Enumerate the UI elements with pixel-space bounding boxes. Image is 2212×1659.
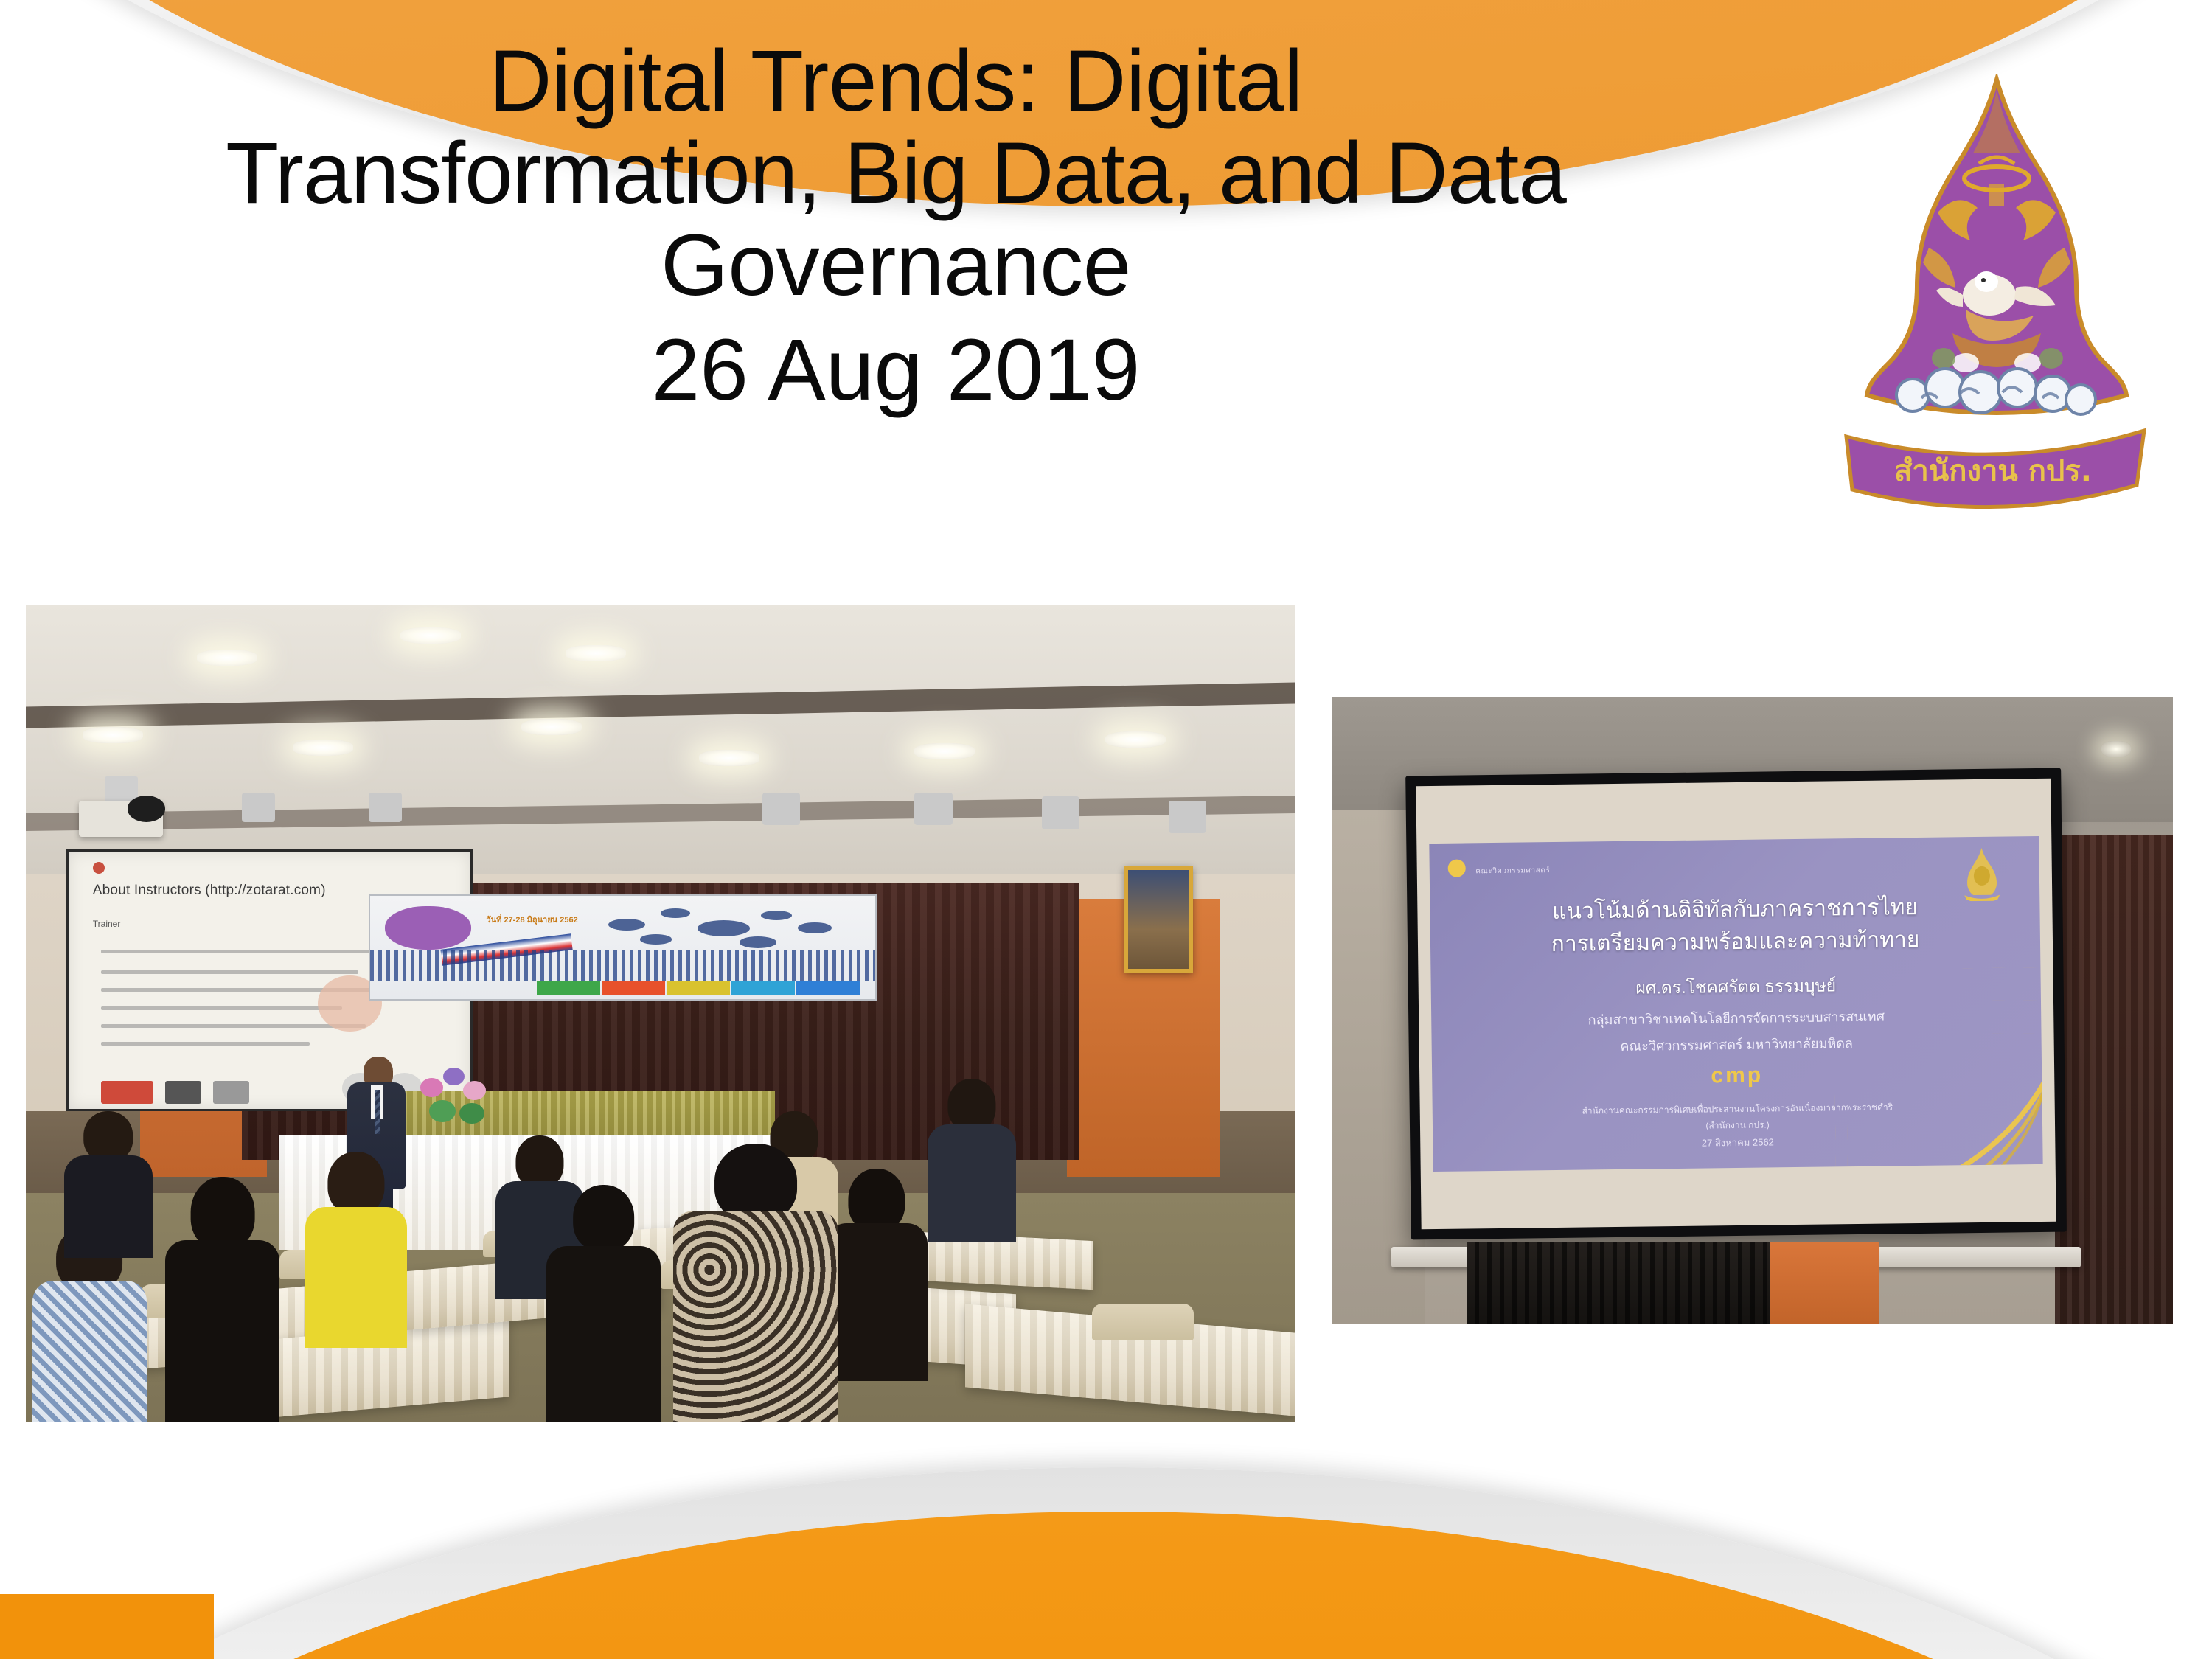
stage-backdrop-banner: วันที่ 27-28 มิถุนายน 2562	[369, 894, 877, 1001]
left-screen-title: About Instructors (http://zotarat.com)	[93, 883, 326, 899]
audience-person	[165, 1177, 279, 1422]
left-screen-subtitle: Trainer	[93, 919, 121, 929]
audience-person	[64, 1111, 153, 1258]
audience-person	[546, 1185, 661, 1422]
emblem-banner-text: สำนักงาน กปร.	[1894, 454, 2092, 488]
projected-title-slide: คณะวิศวกรรมศาสตร์ แนวโน้มด้านดิจิทัลกับภ…	[1429, 836, 2042, 1172]
title-line-1: Digital Trends: Digital	[0, 35, 1792, 128]
university-logo-icon	[1447, 860, 1465, 877]
projection-screen-frame: คณะวิศวกรรมศาสตร์ แนวโน้มด้านดิจิทัลกับภ…	[1405, 768, 2067, 1240]
photo-projector-screen: คณะวิศวกรรมศาสตร์ แนวโน้มด้านดิจิทัลกับภ…	[1332, 697, 2173, 1324]
slide-logo-icon	[93, 862, 105, 874]
slide-heading-line-1: แนวโน้มด้านดิจิทัลกับภาคราชการไทย	[1430, 892, 2039, 928]
audience-person	[673, 1144, 838, 1422]
presentation-slide: Digital Trends: Digital Transformation, …	[0, 0, 2212, 1659]
title-line-2: Transformation, Big Data, and Data	[0, 128, 1792, 220]
slide-date: 26 Aug 2019	[0, 319, 1792, 422]
photo-conference-hall: About Instructors (http://zotarat.com) T…	[26, 605, 1295, 1422]
orange-wall-panel	[1770, 1242, 1879, 1324]
slide-heading-line-2: การเตรียมความพร้อมและความท้าทาย	[1430, 925, 2040, 960]
audience-person	[305, 1152, 407, 1348]
wall-portrait	[1124, 866, 1193, 973]
audience-person	[826, 1169, 928, 1381]
room-furniture	[1467, 1242, 1769, 1324]
slide-title-block: Digital Trends: Digital Transformation, …	[0, 35, 1792, 422]
thai-government-seal-icon: สำนักงาน กปร.	[1842, 74, 2152, 531]
audience-person	[928, 1079, 1017, 1242]
slide-logo-text: คณะวิศวกรรมศาสตร์	[1475, 865, 1550, 877]
title-line-3: Governance	[0, 220, 1792, 312]
bottom-left-orange-tab	[0, 1594, 214, 1659]
banner-date-text: วันที่ 27-28 มิถุนายน 2562	[486, 913, 577, 926]
